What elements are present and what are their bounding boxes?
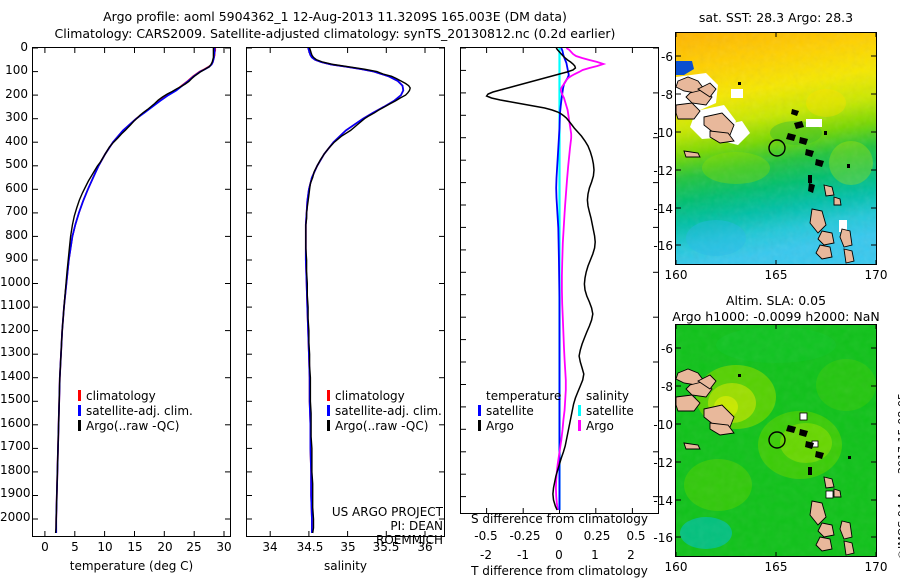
sla-lat-tick: -8 — [645, 380, 673, 394]
legend-item: Argo(..raw -QC) — [327, 419, 442, 433]
s-difference-xtick: -0.25 — [500, 529, 550, 543]
temperature-xtick: 10 — [93, 540, 117, 554]
salinity-profile-curves — [247, 48, 444, 536]
sst-map-tickmarks — [675, 32, 877, 275]
depth-tick: 600 — [0, 181, 28, 195]
t-difference-xtick: 0 — [550, 548, 568, 562]
depth-tick: 1200 — [0, 322, 28, 336]
difference-legend-salinity: salinity satellite Argo — [578, 389, 634, 433]
legend-label: Argo(..raw -QC) — [86, 419, 179, 433]
legend-item: satellite — [478, 404, 561, 418]
legend-swatch-temp-satellite — [478, 405, 481, 416]
sla-lat-tick: -12 — [639, 456, 673, 470]
legend-item: Argo — [478, 419, 561, 433]
legend-swatch-argo — [327, 420, 330, 431]
s-difference-axis-label: S difference from climatology — [460, 512, 659, 526]
legend-swatch-satellite-adj — [78, 405, 81, 416]
legend-label: climatology — [335, 389, 405, 403]
sla-map-title-line2: Argo h1000: -0.0099 h2000: NaN — [655, 309, 897, 324]
legend-swatch-climatology — [327, 390, 330, 401]
depth-tick: 800 — [0, 228, 28, 242]
temperature-axis-label: temperature (deg C) — [32, 559, 231, 573]
legend-label: satellite-adj. clim. — [335, 404, 442, 418]
depth-tick: 400 — [0, 134, 28, 148]
depth-tick: 1000 — [0, 275, 28, 289]
sla-map-tickmarks — [675, 324, 877, 567]
legend-item: satellite-adj. clim. — [78, 404, 193, 418]
depth-tick: 700 — [0, 204, 28, 218]
depth-tick: 1700 — [0, 439, 28, 453]
sst-lat-tick: -10 — [639, 126, 673, 140]
legend-header: temperature — [486, 389, 561, 403]
depth-tick: 200 — [0, 87, 28, 101]
imos-credit-text: ©IMOS 04-Aug-2017 15:08:05 — [896, 393, 900, 560]
temperature-xtick: 15 — [123, 540, 147, 554]
sla-lat-tick: -14 — [639, 494, 673, 508]
difference-profile-curves — [461, 48, 658, 513]
legend-item: Argo(..raw -QC) — [78, 419, 193, 433]
t-difference-xtick: -1 — [513, 548, 533, 562]
temperature-xtick: 5 — [66, 540, 84, 554]
depth-tick: 1800 — [0, 463, 28, 477]
salinity-legend: climatology satellite-adj. clim. Argo(..… — [327, 389, 442, 433]
legend-label: Argo — [486, 419, 514, 433]
t-difference-xtick: 2 — [622, 548, 640, 562]
sst-lat-tick: -6 — [645, 50, 673, 64]
page-title-line1: Argo profile: aoml 5904362_1 12-Aug-2013… — [0, 9, 670, 24]
depth-tick: 500 — [0, 157, 28, 171]
temperature-legend: climatology satellite-adj. clim. Argo(..… — [78, 389, 193, 433]
temperature-xtick: 30 — [212, 540, 236, 554]
sla-map-title-line1: Altim. SLA: 0.05 — [660, 293, 892, 308]
depth-tick: 2000 — [0, 510, 28, 524]
sst-lat-tick: -16 — [639, 239, 673, 253]
legend-swatch-satellite-adj — [327, 405, 330, 416]
t-difference-xtick: 1 — [586, 548, 604, 562]
temperature-xtick: 25 — [182, 540, 206, 554]
legend-item: climatology — [78, 389, 193, 403]
sla-lat-tick: -16 — [639, 531, 673, 545]
project-line1: US ARGO PROJECT — [325, 505, 443, 519]
sst-lat-tick: -12 — [639, 164, 673, 178]
legend-item: Argo — [578, 419, 634, 433]
legend-swatch-sal-argo — [578, 420, 581, 431]
sst-lat-tick: -8 — [645, 88, 673, 102]
temperature-xtick: 20 — [153, 540, 177, 554]
depth-tick: 300 — [0, 110, 28, 124]
depth-tick: 1900 — [0, 486, 28, 500]
legend-swatch-sal-satellite — [578, 405, 581, 416]
depth-tick: 0 — [0, 40, 28, 54]
legend-swatch-temp-argo — [478, 420, 481, 431]
temperature-xtick: 0 — [36, 540, 54, 554]
sst-map-title: sat. SST: 28.3 Argo: 28.3 — [660, 10, 892, 25]
t-difference-xtick: -2 — [476, 548, 496, 562]
depth-tick: 1500 — [0, 392, 28, 406]
legend-swatch-climatology — [78, 390, 81, 401]
salinity-axis-label: salinity — [246, 559, 445, 573]
depth-tick: 1600 — [0, 416, 28, 430]
legend-item: satellite — [578, 404, 634, 418]
salinity-xtick: 34 — [258, 540, 282, 554]
difference-legend: temperature satellite Argo — [478, 389, 561, 433]
imos-credit: ©IMOS 04-Aug-2017 15:08:05 — [896, 560, 900, 573]
s-difference-xtick: 0 — [550, 529, 568, 543]
page-title-line2: Climatology: CARS2009. Satellite-adjuste… — [0, 26, 670, 41]
legend-label: satellite-adj. clim. — [86, 404, 193, 418]
project-line2: PI: DEAN ROEMMICH — [325, 519, 443, 547]
depth-tick: 1400 — [0, 369, 28, 383]
t-difference-axis-label: T difference from climatology — [460, 564, 659, 578]
depth-tick: 1100 — [0, 298, 28, 312]
legend-label: Argo — [586, 419, 614, 433]
legend-item: climatology — [327, 389, 442, 403]
sst-lat-tick: -14 — [639, 202, 673, 216]
legend-label: satellite — [486, 404, 534, 418]
legend-header: salinity — [586, 389, 634, 403]
legend-label: Argo(..raw -QC) — [335, 419, 428, 433]
temperature-profile-curves — [33, 48, 230, 536]
sla-lat-tick: -10 — [639, 418, 673, 432]
s-difference-xtick: 0.25 — [575, 529, 619, 543]
legend-item: satellite-adj. clim. — [327, 404, 442, 418]
legend-label: satellite — [586, 404, 634, 418]
project-credit: US ARGO PROJECT PI: DEAN ROEMMICH — [325, 505, 443, 547]
depth-tick: 100 — [0, 63, 28, 77]
legend-label: climatology — [86, 389, 156, 403]
legend-swatch-argo — [78, 420, 81, 431]
depth-tick: 1300 — [0, 345, 28, 359]
sla-lat-tick: -6 — [645, 342, 673, 356]
depth-tick: 900 — [0, 251, 28, 265]
